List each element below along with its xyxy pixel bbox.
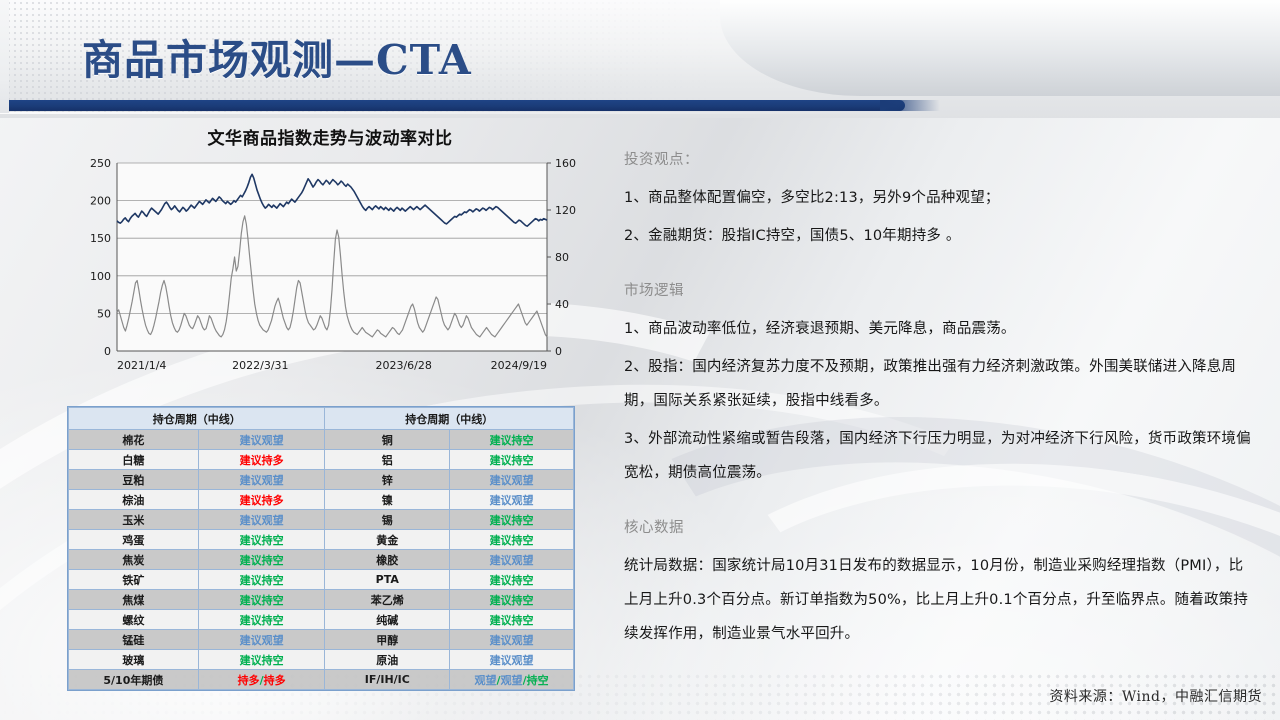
spacer-1 [624,257,1254,279]
table-cell-left-name: 鸡蛋 [69,530,199,550]
table-row: 棕油建议持多镍建议观望 [69,490,574,510]
header-underline [0,112,940,114]
table-cell-right-name: 镍 [325,490,450,510]
svg-text:200: 200 [90,195,111,208]
table-cell-left-name: 棉花 [69,430,199,450]
header-gloss-panel [720,0,1280,96]
table-cell-left-value: 建议持多 [198,490,325,510]
investment-view-list: 1、商品整体配置偏空，多空比2:13，另外9个品种观望；2、金融期货：股指IC持… [624,181,1254,253]
table-body: 棉花建议观望铜建议持空白糖建议持多铝建议持空豆粕建议观望锌建议观望棕油建议持多镍… [69,430,574,690]
svg-text:2024/9/19: 2024/9/19 [491,359,547,372]
svg-text:250: 250 [90,157,111,170]
table-row: 鸡蛋建议持空黄金建议持空 [69,530,574,550]
value-part: 持多 [238,674,260,687]
table-row: 玻璃建议持空原油建议观望 [69,650,574,670]
table-cell-right-name: 铜 [325,430,450,450]
table-cell-left-value: 建议观望 [198,510,325,530]
svg-text:0: 0 [104,345,111,358]
table-cell-right-name: 铝 [325,450,450,470]
table-cell-left-value: 建议持空 [198,590,325,610]
table-cell-right-value: 建议持空 [450,510,574,530]
table-cell-left-name: 棕油 [69,490,199,510]
table-cell-left-name: 5/10年期债 [69,670,199,690]
table-cell-left-value: 建议持多 [198,450,325,470]
svg-text:150: 150 [90,232,111,245]
table-row: 豆粕建议观望锌建议观望 [69,470,574,490]
market-logic-item: 3、外部流动性紧缩或暂告段落，国内经济下行压力明显，为对冲经济下行风险，货币政策… [624,422,1254,490]
table-cell-right-value: 建议持空 [450,450,574,470]
table-row: 焦炭建议持空橡胶建议观望 [69,550,574,570]
table-cell-right-name: IF/IH/IC [325,670,450,690]
header-left-edge [0,0,9,113]
value-part: 观望 [475,674,497,687]
table-cell-left-name: 螺纹 [69,610,199,630]
table-row: 白糖建议持多铝建议持空 [69,450,574,470]
table-cell-left-value: 建议持空 [198,550,325,570]
table-cell-left-name: 豆粕 [69,470,199,490]
spacer-2 [624,494,1254,516]
value-part: 持空 [527,674,549,687]
table-row: 焦煤建议持空苯乙烯建议持空 [69,590,574,610]
market-logic-heading: 市场逻辑 [624,279,1254,300]
table-cell-right-value: 建议持空 [450,590,574,610]
value-part: 观望 [501,674,523,687]
table-cell-right-value: 建议持空 [450,430,574,450]
value-part: 持多 [264,674,286,687]
table-cell-right-name: 锡 [325,510,450,530]
svg-text:160: 160 [555,157,576,170]
core-data-heading: 核心数据 [624,516,1254,537]
table-cell-right-name: PTA [325,570,450,590]
table-cell-right-name: 纯碱 [325,610,450,630]
table-cell-right-name: 苯乙烯 [325,590,450,610]
table-cell-right-value: 建议观望 [450,470,574,490]
table-cell-left-value: 建议观望 [198,470,325,490]
svg-text:100: 100 [90,270,111,283]
commentary-panel: 投资观点： 1、商品整体配置偏空，多空比2:13，另外9个品种观望；2、金融期货… [624,148,1254,655]
table-cell-right-name: 橡胶 [325,550,450,570]
table-cell-right-value: 建议观望 [450,630,574,650]
table-cell-left-value: 建议观望 [198,630,325,650]
table-cell-left-name: 锰硅 [69,630,199,650]
table-cell-left-value: 建议持空 [198,530,325,550]
table-cell-left-value: 建议持空 [198,650,325,670]
table-cell-right-value: 观望/观望/持空 [450,670,574,690]
svg-text:40: 40 [555,298,569,311]
chart-block: 文华商品指数走势与波动率对比 0501001502002500408012016… [70,124,590,392]
recommendation-table: 持仓周期（中线） 持仓周期（中线） 棉花建议观望铜建议持空白糖建议持多铝建议持空… [68,407,574,690]
svg-text:2021/1/4: 2021/1/4 [117,359,166,372]
svg-text:120: 120 [555,204,576,217]
table-row: 棉花建议观望铜建议持空 [69,430,574,450]
market-logic-item: 2、股指：国内经济复苏力度不及预期，政策推出强有力经济刺激政策。外围美联储进入降… [624,350,1254,418]
table-cell-left-name: 焦煤 [69,590,199,610]
table-cell-left-value: 建议持空 [198,610,325,630]
chart-svg: 050100150200250040801201602021/1/42022/3… [70,151,590,391]
slide-header: 商品市场观测—CTA [0,0,1280,118]
slide-root: 商品市场观测—CTA 文华商品指数走势与波动率对比 05010015020025… [0,0,1280,720]
table-row: 玉米建议观望锡建议持空 [69,510,574,530]
market-logic-item: 1、商品波动率低位，经济衰退预期、美元降息，商品震荡。 [624,312,1254,346]
table-cell-left-value: 建议观望 [198,430,325,450]
table-row-bonds: 5/10年期债持多/持多IF/IH/IC观望/观望/持空 [69,670,574,690]
table-cell-right-name: 锌 [325,470,450,490]
table-head: 持仓周期（中线） 持仓周期（中线） [69,408,574,430]
table-cell-left-value: 建议持空 [198,570,325,590]
source-note: 资料来源：Wind，中融汇信期货 [1049,686,1262,706]
investment-view-item: 1、商品整体配置偏空，多空比2:13，另外9个品种观望； [624,181,1254,215]
table-cell-right-value: 建议观望 [450,490,574,510]
table-cell-left-name: 铁矿 [69,570,199,590]
table-header-row: 持仓周期（中线） 持仓周期（中线） [69,408,574,430]
svg-text:80: 80 [555,251,569,264]
table-header-left: 持仓周期（中线） [69,408,325,430]
table-cell-left-name: 玻璃 [69,650,199,670]
table-cell-right-value: 建议持空 [450,610,574,630]
table-row: 铁矿建议持空PTA建议持空 [69,570,574,590]
svg-text:2022/3/31: 2022/3/31 [232,359,288,372]
chart-plot-area: 050100150200250040801201602021/1/42022/3… [70,151,590,391]
investment-view-heading: 投资观点： [624,148,1254,169]
table-row: 锰硅建议观望甲醇建议观望 [69,630,574,650]
table-cell-right-value: 建议持空 [450,570,574,590]
market-logic-list: 1、商品波动率低位，经济衰退预期、美元降息，商品震荡。2、股指：国内经济复苏力度… [624,312,1254,490]
table-cell-right-name: 甲醇 [325,630,450,650]
investment-view-item: 2、金融期货：股指IC持空，国债5、10年期持多 。 [624,219,1254,253]
table-row: 螺纹建议持空纯碱建议持空 [69,610,574,630]
svg-text:2023/6/28: 2023/6/28 [375,359,431,372]
core-data-list: 统计局数据：国家统计局10月31日发布的数据显示，10月份，制造业采购经理指数（… [624,549,1254,651]
table-header-right: 持仓周期（中线） [325,408,574,430]
header-accent-bar-fade [880,100,940,111]
core-data-item: 统计局数据：国家统计局10月31日发布的数据显示，10月份，制造业采购经理指数（… [624,549,1254,651]
table-cell-right-value: 建议观望 [450,650,574,670]
table-cell-right-value: 建议观望 [450,550,574,570]
header-accent-bar [0,100,905,111]
table-cell-right-name: 原油 [325,650,450,670]
table-cell-right-name: 黄金 [325,530,450,550]
table-cell-left-value: 持多/持多 [198,670,325,690]
table-cell-left-name: 玉米 [69,510,199,530]
svg-text:0: 0 [555,345,562,358]
chart-title: 文华商品指数走势与波动率对比 [70,124,590,149]
table-cell-left-name: 白糖 [69,450,199,470]
svg-text:50: 50 [97,307,111,320]
table-cell-right-value: 建议持空 [450,530,574,550]
page-title: 商品市场观测—CTA [82,26,472,86]
table-cell-left-name: 焦炭 [69,550,199,570]
